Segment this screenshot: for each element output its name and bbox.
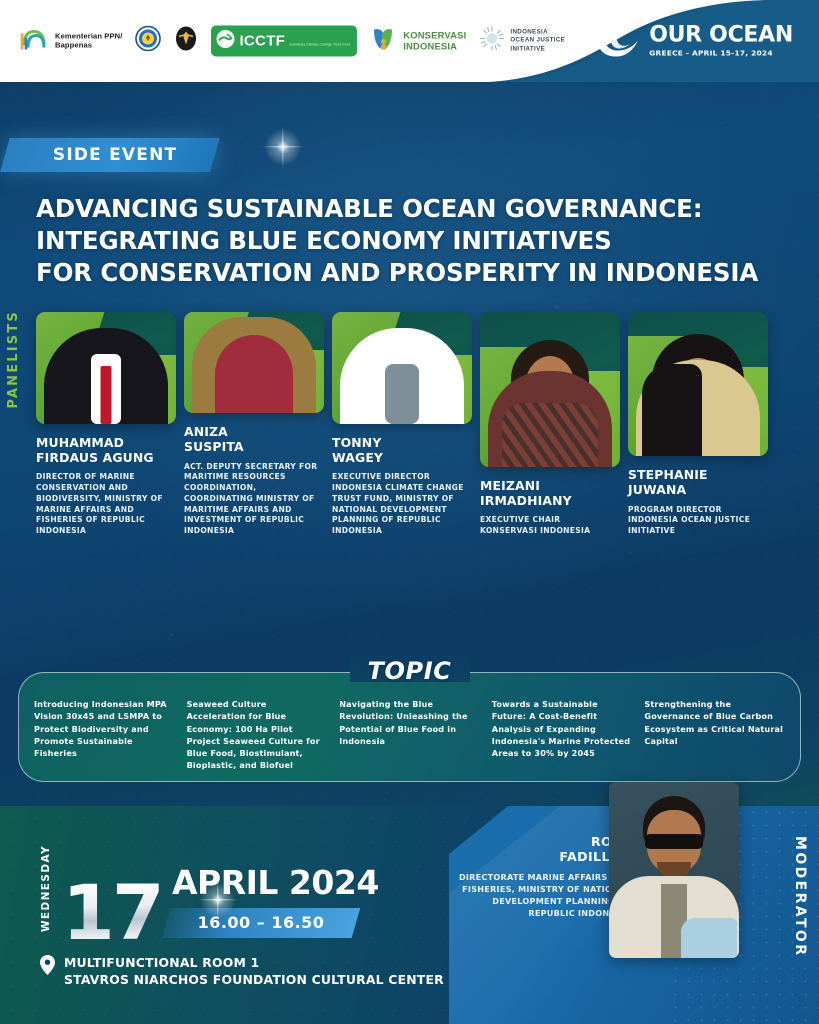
panelist-role: PROGRAM DIRECTOR INDONESIA OCEAN JUSTICE… bbox=[628, 505, 768, 537]
venue-text: MULTIFUNCTIONAL ROOM 1 STAVROS NIARCHOS … bbox=[64, 955, 444, 988]
topic-list: Introducing Indonesian MPA Vision 30x45 … bbox=[34, 698, 785, 772]
logo-kementerian-ppn-bappenas: Kementerian PPN/ Bappenas bbox=[20, 26, 122, 57]
page-title: ADVANCING SUSTAINABLE OCEAN GOVERNANCE: … bbox=[36, 193, 776, 289]
day-number: 17 bbox=[62, 883, 162, 942]
topic-section: TOPIC Introducing Indonesian MPA Vision … bbox=[18, 672, 801, 782]
month-year: APRIL 2024 bbox=[172, 863, 379, 902]
moderator-panel: ROBY FADILLAH DIRECTORATE MARINE AFFAIRS… bbox=[449, 806, 819, 1024]
sparkle-accent-badge bbox=[262, 126, 304, 168]
panelist-card[interactable]: ANIZA SUSPITA ACT. DEPUTY SECRETARY FOR … bbox=[184, 312, 324, 537]
panelist-role: DIRECTOR OF MARINE CONSERVATION AND BIOD… bbox=[36, 472, 176, 537]
panelist-role: EXECUTIVE DIRECTOR INDONESIA CLIMATE CHA… bbox=[332, 472, 472, 537]
moderator-role: DIRECTORATE MARINE AFFAIRS AND FISHERIES… bbox=[453, 872, 631, 920]
logo-label-ioji: INDONESIA OCEAN JUSTICE INITIATIVE bbox=[510, 28, 565, 53]
panelists-row: MUHAMMAD FIRDAUS AGUNG DIRECTOR OF MARIN… bbox=[36, 312, 784, 537]
venue-block: MULTIFUNCTIONAL ROOM 1 STAVROS NIARCHOS … bbox=[40, 955, 444, 988]
panelist-card[interactable]: MUHAMMAD FIRDAUS AGUNG DIRECTOR OF MARIN… bbox=[36, 312, 176, 537]
topic-item: Strengthening the Governance of Blue Car… bbox=[644, 698, 785, 772]
topic-item: Introducing Indonesian MPA Vision 30x45 … bbox=[34, 698, 175, 772]
panelist-card[interactable]: TONNY WAGEY EXECUTIVE DIRECTOR INDONESIA… bbox=[332, 312, 472, 537]
weekday-label: WEDNESDAY bbox=[40, 845, 52, 932]
our-ocean-brand: OUR OCEAN GREECE - APRIL 15-17, 2024 bbox=[590, 15, 793, 68]
logo-konservasi-indonesia: KONSERVASI INDONESIA bbox=[370, 26, 466, 57]
panelist-photo bbox=[628, 312, 768, 456]
side-event-badge: SIDE EVENT bbox=[0, 138, 220, 172]
panelist-card[interactable]: MEIZANI IRMADHIANY EXECUTIVE CHAIR KONSE… bbox=[480, 312, 620, 537]
panelist-role: EXECUTIVE CHAIR KONSERVASI INDONESIA bbox=[480, 515, 620, 537]
icctf-sublabel: Indonesia Climate Change Trust Fund bbox=[290, 43, 351, 47]
topic-item: Navigating the Blue Revolution: Unleashi… bbox=[339, 698, 480, 772]
topic-item: Towards a Sustainable Future: A Cost-Ben… bbox=[492, 698, 633, 772]
our-ocean-text: OUR OCEAN GREECE - APRIL 15-17, 2024 bbox=[649, 25, 793, 57]
logo-icctf: ICCTF Indonesia Climate Change Trust Fun… bbox=[211, 26, 357, 57]
our-ocean-title: OUR OCEAN bbox=[649, 25, 793, 47]
panelist-photo bbox=[332, 312, 472, 424]
panelist-name: MEIZANI IRMADHIANY bbox=[480, 479, 620, 508]
panelist-name: TONNY WAGEY bbox=[332, 436, 472, 465]
moderator-name: ROBY FADILLAH bbox=[461, 834, 631, 864]
header-bar: Kementerian PPN/ Bappenas bbox=[0, 0, 819, 82]
logo-kkp-seal bbox=[135, 26, 161, 57]
garuda-seal-icon bbox=[174, 26, 198, 57]
panelist-name: STEPHANIE JUWANA bbox=[628, 468, 768, 497]
icctf-badge: ICCTF Indonesia Climate Change Trust Fun… bbox=[211, 26, 357, 57]
panelist-role: ACT. DEPUTY SECRETARY FOR MARITIME RESOU… bbox=[184, 462, 324, 537]
panelist-card[interactable]: STEPHANIE JUWANA PROGRAM DIRECTOR INDONE… bbox=[628, 312, 768, 537]
kkp-seal-icon bbox=[135, 26, 161, 57]
panelist-photo bbox=[36, 312, 176, 424]
icctf-leaf-icon bbox=[216, 30, 235, 54]
our-ocean-wave-icon bbox=[590, 15, 642, 68]
time-chip: 16.00 – 16.50 bbox=[162, 908, 361, 938]
panelist-name: ANIZA SUSPITA bbox=[184, 425, 324, 454]
our-ocean-subtitle: GREECE - APRIL 15-17, 2024 bbox=[649, 50, 793, 57]
panelist-name: MUHAMMAD FIRDAUS AGUNG bbox=[36, 436, 176, 465]
panelist-photo bbox=[480, 312, 620, 467]
konservasi-indonesia-icon bbox=[370, 26, 398, 57]
panelist-photo bbox=[184, 312, 324, 413]
title-line-1: ADVANCING SUSTAINABLE OCEAN GOVERNANCE: bbox=[36, 193, 776, 225]
bappenas-icon bbox=[20, 26, 50, 57]
event-poster: Kementerian PPN/ Bappenas bbox=[0, 0, 819, 1024]
topic-item: Seaweed Culture Acceleration for Blue Ec… bbox=[187, 698, 328, 772]
location-pin-icon bbox=[40, 955, 55, 980]
moderator-section-label: MODERATOR bbox=[792, 836, 808, 957]
time-label: 16.00 – 16.50 bbox=[166, 908, 356, 938]
panelists-section-label: PANELISTS bbox=[6, 310, 21, 409]
logo-garuda-seal bbox=[174, 26, 198, 57]
title-line-2: INTEGRATING BLUE ECONOMY INITIATIVES bbox=[36, 225, 776, 257]
icctf-label: ICCTF bbox=[239, 33, 285, 50]
title-line-3: FOR CONSERVATION AND PROSPERITY IN INDON… bbox=[36, 257, 776, 289]
ioji-sunburst-icon bbox=[479, 26, 505, 57]
logo-ioji: INDONESIA OCEAN JUSTICE INITIATIVE bbox=[479, 26, 565, 57]
side-event-label: SIDE EVENT bbox=[5, 138, 215, 172]
logo-label-konservasi: KONSERVASI INDONESIA bbox=[403, 30, 466, 51]
partner-logos: Kementerian PPN/ Bappenas bbox=[20, 26, 565, 57]
topic-heading: TOPIC bbox=[352, 657, 468, 685]
moderator-photo bbox=[609, 782, 739, 958]
logo-label-bappenas: Kementerian PPN/ Bappenas bbox=[55, 33, 122, 50]
